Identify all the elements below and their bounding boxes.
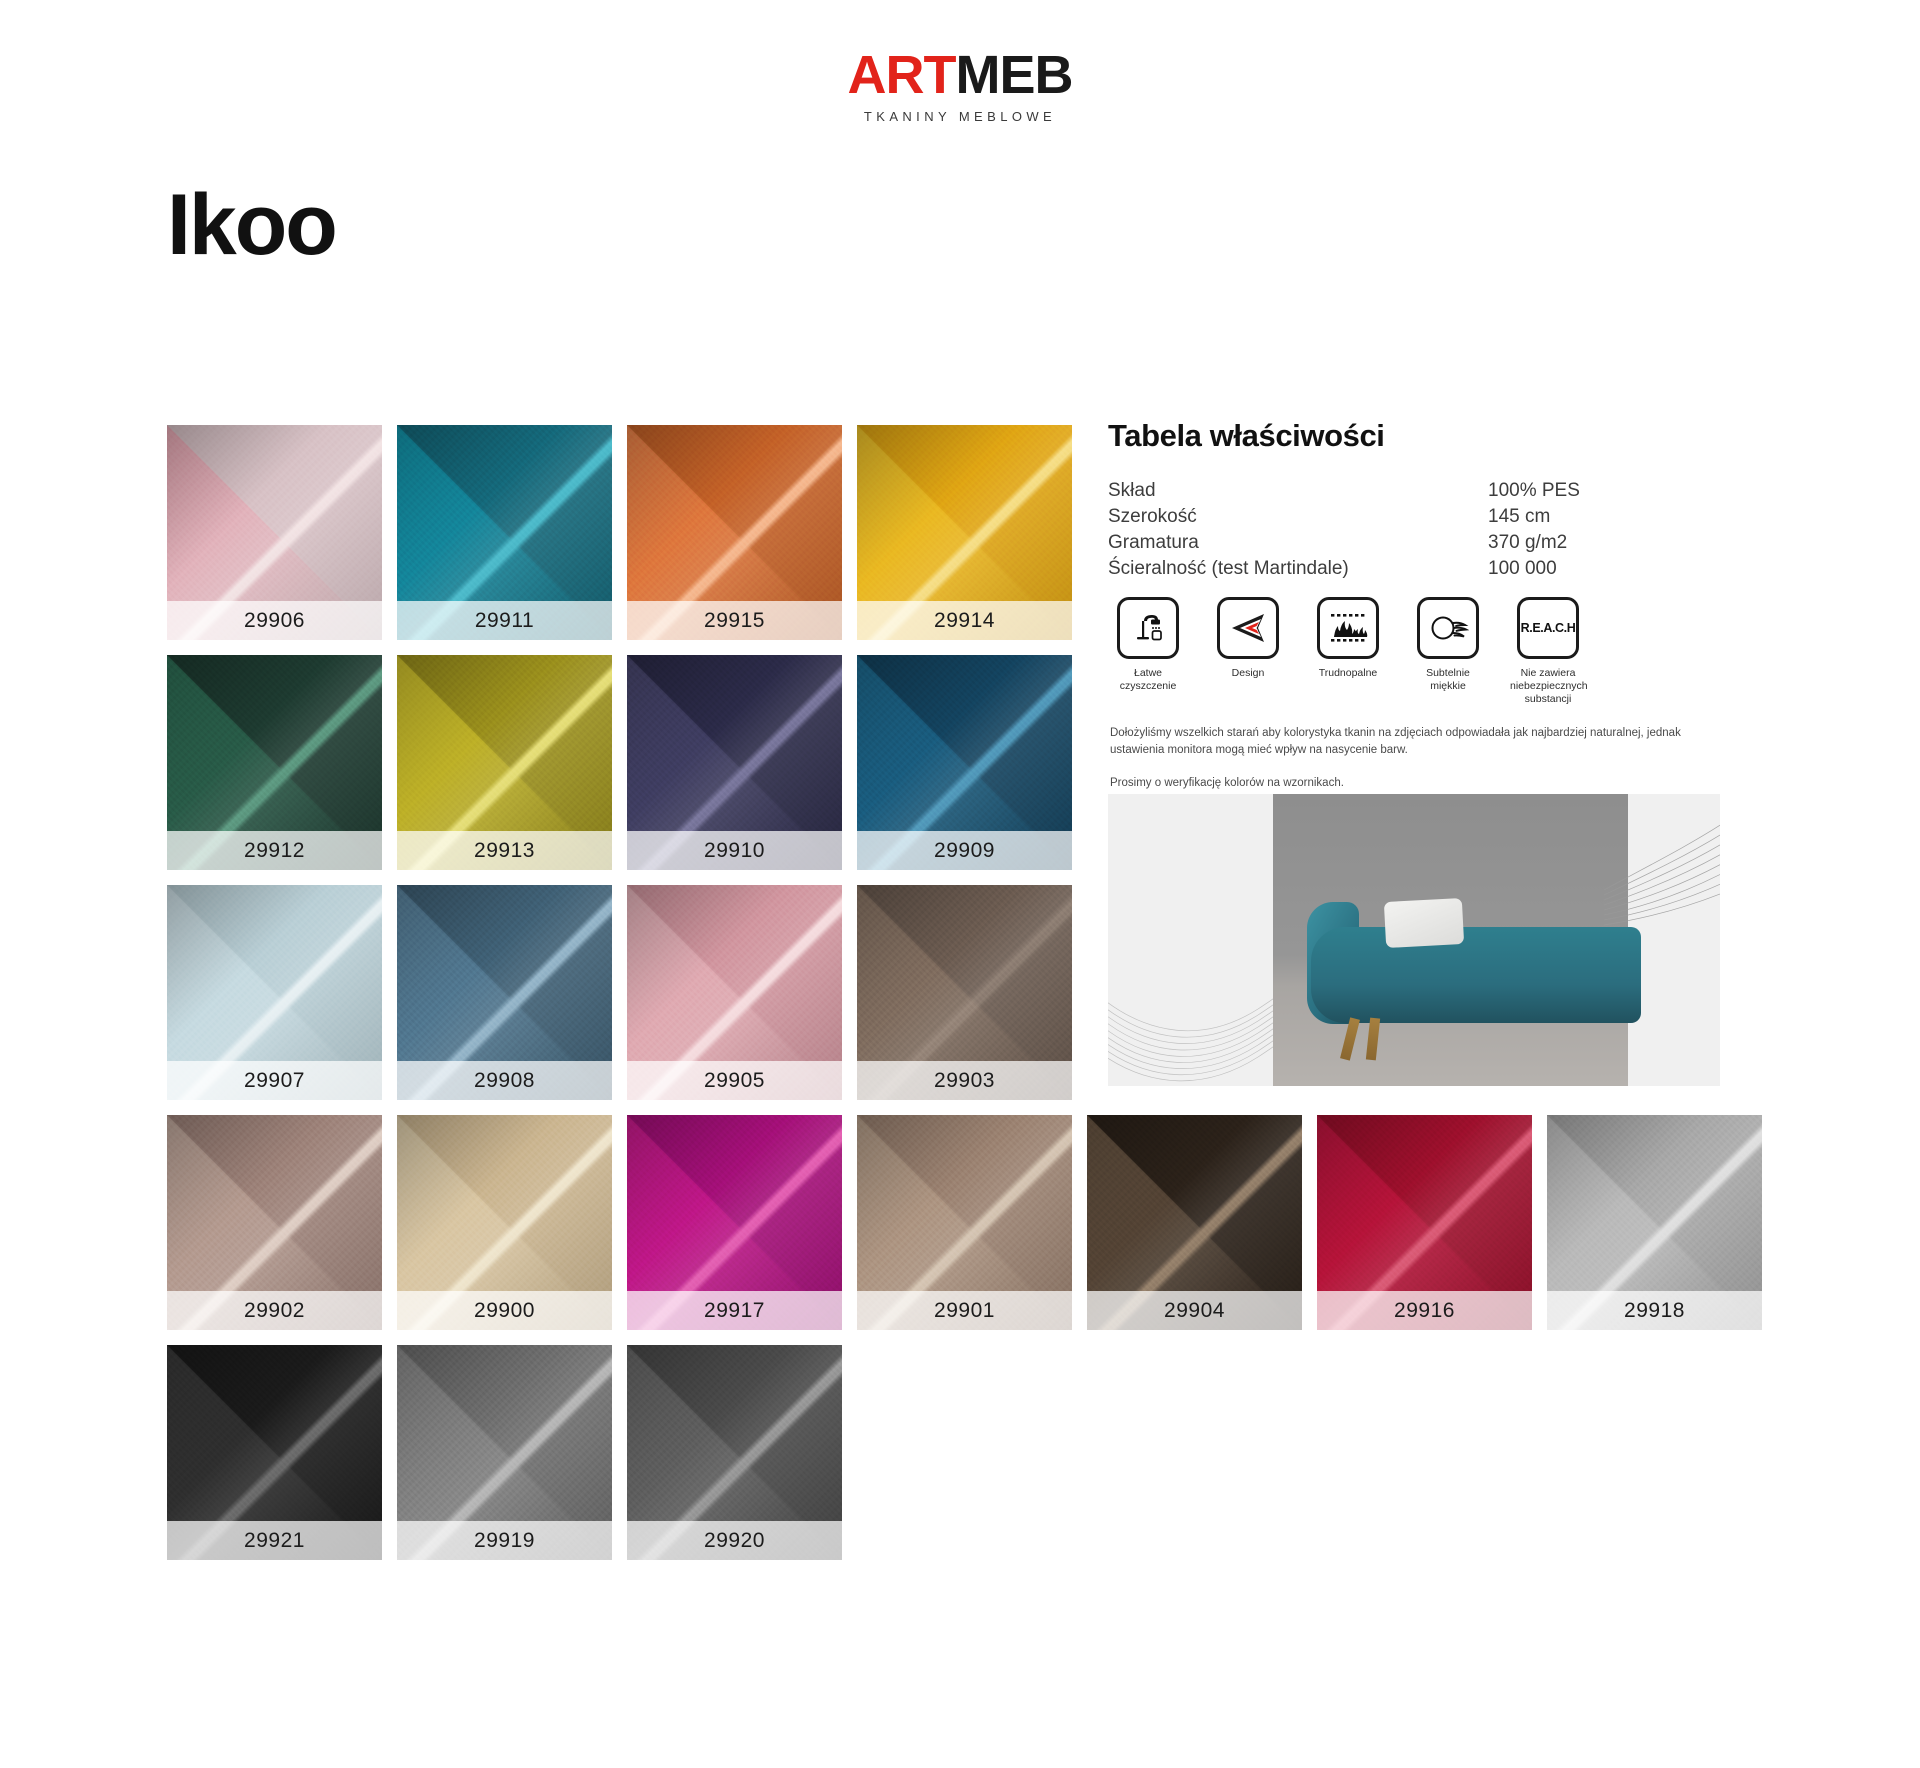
swatch-code-label: 29920 [627,1521,842,1560]
swatch-code-label: 29912 [167,831,382,870]
swatch-code-label: 29909 [857,831,1072,870]
swatch-code-label: 29900 [397,1291,612,1330]
fabric-swatch[interactable]: 29900 [397,1115,612,1330]
fabric-swatch[interactable]: 29902 [167,1115,382,1330]
fabric-swatch[interactable]: 29920 [627,1345,842,1560]
property-label: Skład [1108,478,1488,504]
feature-item: Łatwe czyszczenie [1110,597,1186,706]
easy-clean-icon [1117,597,1179,659]
brand-wordmark: ARTMEB [0,48,1920,102]
fabric-swatch[interactable]: 29908 [397,885,612,1100]
swatch-code-label: 29908 [397,1061,612,1100]
reach-icon: R.E.A.C.H [1517,597,1579,659]
swatch-code-label: 29907 [167,1061,382,1100]
fabric-swatch[interactable]: 29910 [627,655,842,870]
feature-caption: Trudnopalne [1310,667,1386,680]
swatch-code-label: 29921 [167,1521,382,1560]
swatch-code-label: 29910 [627,831,842,870]
swatch-code-label: 29906 [167,601,382,640]
design-icon [1217,597,1279,659]
property-label: Gramatura [1108,530,1488,556]
swatch-code-label: 29915 [627,601,842,640]
brand-name-part1: ART [848,45,956,105]
properties-table: Skład100% PESSzerokość145 cmGramatura370… [1108,478,1708,582]
property-row: Ścieralność (test Martindale)100 000 [1108,556,1708,582]
swatch-row: 299212991929920 [167,1345,1767,1560]
swatch-code-label: 29918 [1547,1291,1762,1330]
room-photo-scene [1273,794,1628,1086]
fabric-swatch[interactable]: 29921 [167,1345,382,1560]
swatch-code-label: 29901 [857,1291,1072,1330]
brand-logo: ARTMEB TKANINY MEBLOWE [0,48,1920,124]
fabric-swatch[interactable]: 29906 [167,425,382,640]
feature-caption: Design [1210,667,1286,680]
fabric-swatch[interactable]: 29901 [857,1115,1072,1330]
property-value: 100% PES [1488,478,1708,504]
fabric-swatch[interactable]: 29914 [857,425,1072,640]
fabric-swatch[interactable]: 29907 [167,885,382,1100]
brand-name-part2: MEB [955,45,1072,105]
property-value: 145 cm [1488,504,1708,530]
fabric-swatch[interactable]: 29909 [857,655,1072,870]
properties-table-body: Skład100% PESSzerokość145 cmGramatura370… [1108,478,1708,582]
brand-tagline: TKANINY MEBLOWE [0,109,1920,124]
feature-item: Trudnopalne [1310,597,1386,706]
sofa-leg-back [1366,1018,1380,1061]
swatch-code-label: 29905 [627,1061,842,1100]
property-row: Szerokość145 cm [1108,504,1708,530]
fabric-swatch[interactable]: 29917 [627,1115,842,1330]
swatch-code-label: 29904 [1087,1291,1302,1330]
disclaimer-paragraph-1: Dołożyliśmy wszelkich starań aby kolorys… [1110,725,1722,758]
fabric-swatch[interactable]: 29912 [167,655,382,870]
property-label: Ścieralność (test Martindale) [1108,556,1488,582]
sofa-pillow [1384,898,1464,948]
reach-badge-text: R.E.A.C.H [1521,621,1576,635]
softness-icon [1417,597,1479,659]
disclaimer-paragraph-2: Prosimy o weryfikację kolorów na wzornik… [1110,775,1722,792]
room-photo [1108,794,1720,1086]
fabric-swatch[interactable]: 29919 [397,1345,612,1560]
swatch-code-label: 29914 [857,601,1072,640]
feature-caption: Subtelnie miękkie [1410,667,1486,693]
fabric-swatch[interactable]: 29911 [397,425,612,640]
swatch-code-label: 29913 [397,831,612,870]
fabric-swatch[interactable]: 29913 [397,655,612,870]
feature-item: R.E.A.C.HNie zawiera niebezpiecznych sub… [1510,597,1586,706]
fabric-swatch[interactable]: 29905 [627,885,842,1100]
sofa-seat [1311,927,1641,1023]
properties-heading: Tabela właściwości [1108,418,1708,454]
swatch-code-label: 29911 [397,601,612,640]
swatch-code-label: 29917 [627,1291,842,1330]
swatch-code-label: 29902 [167,1291,382,1330]
property-row: Skład100% PES [1108,478,1708,504]
fabric-swatch[interactable]: 29916 [1317,1115,1532,1330]
feature-item: Design [1210,597,1286,706]
fabric-swatch[interactable]: 29918 [1547,1115,1762,1330]
swatch-row: 29902299002991729901299042991629918 [167,1115,1767,1330]
feature-item: Subtelnie miękkie [1410,597,1486,706]
swatch-code-label: 29916 [1317,1291,1532,1330]
swatch-code-label: 29903 [857,1061,1072,1100]
property-row: Gramatura370 g/m2 [1108,530,1708,556]
fabric-swatch[interactable]: 29915 [627,425,842,640]
property-label: Szerokość [1108,504,1488,530]
property-value: 370 g/m2 [1488,530,1708,556]
property-value: 100 000 [1488,556,1708,582]
feature-caption: Łatwe czyszczenie [1110,667,1186,693]
flame-retardant-icon [1317,597,1379,659]
fabric-swatch[interactable]: 29904 [1087,1115,1302,1330]
feature-icon-list: Łatwe czyszczenieDesignTrudnopalneSubtel… [1110,597,1586,706]
swatch-code-label: 29919 [397,1521,612,1560]
collection-title: Ikoo [167,182,336,268]
properties-panel: Tabela właściwości Skład100% PESSzerokoś… [1108,418,1708,582]
fabric-swatch[interactable]: 29903 [857,885,1072,1100]
feature-caption: Nie zawiera niebezpiecznych substancji [1510,667,1586,706]
